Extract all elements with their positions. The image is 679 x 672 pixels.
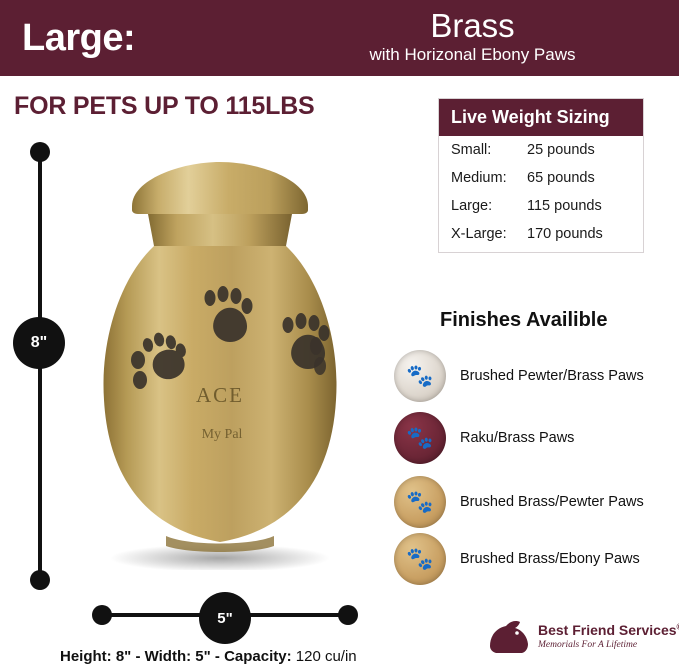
logo-text-block: Best Friend Services® Memorials For A Li…: [538, 622, 679, 650]
dog-silhouette-icon: [486, 616, 532, 656]
engraving-name: ACE: [196, 383, 244, 407]
paw-icon: 🐾: [406, 427, 433, 449]
header-size-label-block: Large:: [0, 0, 280, 76]
dimensions-caption: Height: 8" - Width: 5" - Capacity: 120 c…: [60, 648, 357, 665]
finish-swatch: 🐾: [394, 476, 446, 528]
height-badge: 8": [13, 317, 65, 369]
finish-label: Brushed Pewter/Brass Paws: [460, 368, 644, 384]
dimensions-caption-bold: Height: 8" - Width: 5" - Capacity:: [60, 648, 292, 665]
width-badge: 5": [199, 592, 251, 644]
header-subtitle: with Horizonal Ebony Paws: [370, 44, 576, 66]
header-title: Brass: [430, 10, 514, 42]
engraving-sub: My Pal: [202, 427, 243, 442]
dimensions-caption-value: 120 cu/in: [292, 648, 357, 665]
finish-swatch: 🐾: [394, 412, 446, 464]
sizing-row-value: 170 pounds: [527, 226, 603, 242]
sizing-row: X-Large: 170 pounds: [439, 220, 643, 252]
urn-illustration: ACE My Pal: [70, 150, 370, 570]
height-measure-cap-top: [30, 142, 50, 162]
sizing-row-label: X-Large:: [451, 226, 527, 242]
header-size-label: Large:: [22, 17, 135, 60]
sizing-row: Medium: 65 pounds: [439, 164, 643, 192]
header-title-block: Brass with Horizonal Ebony Paws: [280, 0, 679, 76]
width-measure-cap-left: [92, 605, 112, 625]
brand-logo: Best Friend Services® Memorials For A Li…: [486, 612, 671, 660]
width-measure-cap-right: [338, 605, 358, 625]
finish-label: Raku/Brass Paws: [460, 430, 574, 446]
sizing-row: Small: 25 pounds: [439, 136, 643, 164]
logo-tagline: Memorials For A Lifetime: [538, 640, 679, 650]
height-measure-cap-bottom: [30, 570, 50, 590]
finish-swatch: 🐾: [394, 533, 446, 585]
live-weight-sizing-box: Live Weight Sizing Small: 25 pounds Medi…: [438, 98, 644, 253]
paw-icon: 🐾: [406, 548, 433, 570]
urn-neck: [148, 214, 292, 246]
finish-option: 🐾 Brushed Brass/Ebony Paws: [394, 533, 640, 585]
sizing-row-label: Medium:: [451, 170, 527, 186]
finish-option: 🐾 Brushed Brass/Pewter Paws: [394, 476, 644, 528]
finish-swatch: 🐾: [394, 350, 446, 402]
paw-icon: 🐾: [406, 365, 433, 387]
header-banner: Large: Brass with Horizonal Ebony Paws: [0, 0, 679, 76]
sizing-row-value: 25 pounds: [527, 142, 595, 158]
finish-option: 🐾 Brushed Pewter/Brass Paws: [394, 350, 644, 402]
finishes-title: Finishes Availible: [440, 309, 607, 332]
logo-name: Best Friend Services®: [538, 622, 679, 638]
finish-label: Brushed Brass/Ebony Paws: [460, 551, 640, 567]
sizing-row: Large: 115 pounds: [439, 192, 643, 220]
logo-name-text: Best Friend Services: [538, 622, 677, 638]
finish-label: Brushed Brass/Pewter Paws: [460, 494, 644, 510]
sizing-row-label: Small:: [451, 142, 527, 158]
page-headline: FOR PETS UP TO 115LBS: [14, 92, 315, 121]
sizing-row-value: 115 pounds: [527, 198, 602, 214]
paw-icon: 🐾: [406, 491, 433, 513]
sizing-row-value: 65 pounds: [527, 170, 595, 186]
urn-lid: [132, 162, 308, 214]
product-image: ACE My Pal: [70, 150, 370, 590]
sizing-row-label: Large:: [451, 198, 527, 214]
sizing-box-title: Live Weight Sizing: [439, 99, 643, 136]
finish-option: 🐾 Raku/Brass Paws: [394, 412, 574, 464]
